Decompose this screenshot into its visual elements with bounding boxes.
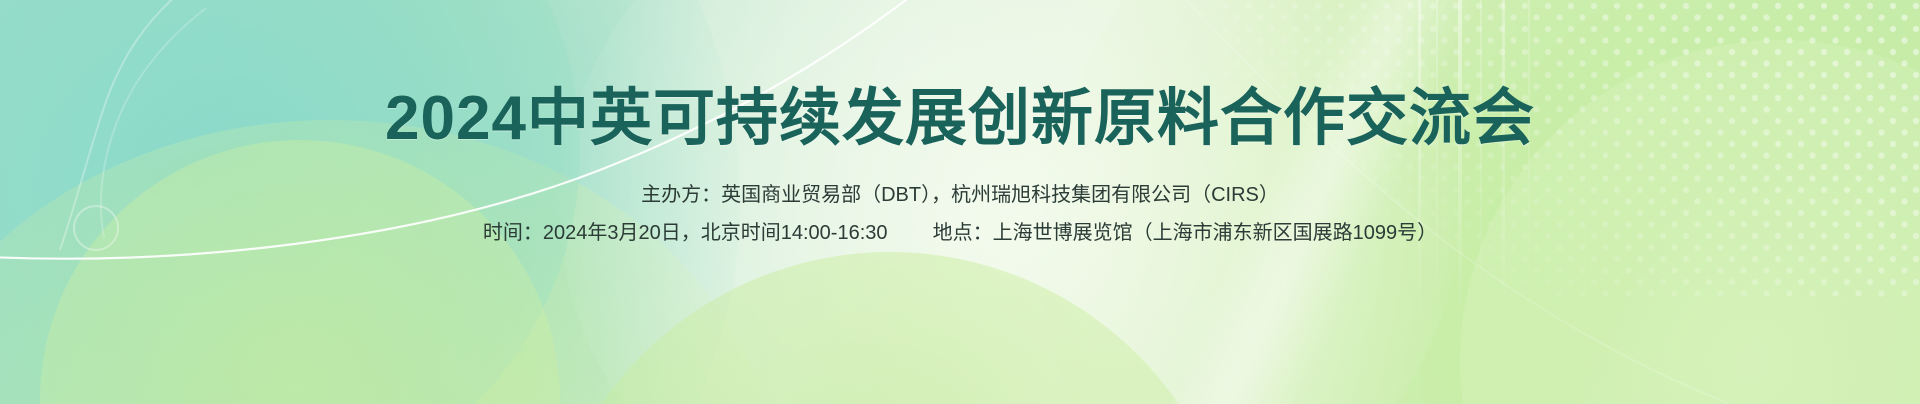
banner-venue-text: 地点：上海世博展览馆（上海市浦东新区国展路1099号） — [933, 222, 1438, 244]
banner-details-line: 时间：2024年3月20日，北京时间14:00-16:30 地点：上海世博展览馆… — [483, 219, 1437, 248]
banner-organizer-line: 主办方：英国商业贸易部（DBT），杭州瑞旭科技集团有限公司（CIRS） — [641, 181, 1279, 210]
banner-title: 2024中英可持续发展创新原料合作交流会 — [385, 86, 1535, 151]
banner-content: 2024中英可持续发展创新原料合作交流会 主办方：英国商业贸易部（DBT），杭州… — [0, 0, 1920, 404]
banner-time-text: 时间：2024年3月20日，北京时间14:00-16:30 — [483, 222, 888, 244]
event-banner: 2024中英可持续发展创新原料合作交流会 主办方：英国商业贸易部（DBT），杭州… — [0, 0, 1920, 404]
